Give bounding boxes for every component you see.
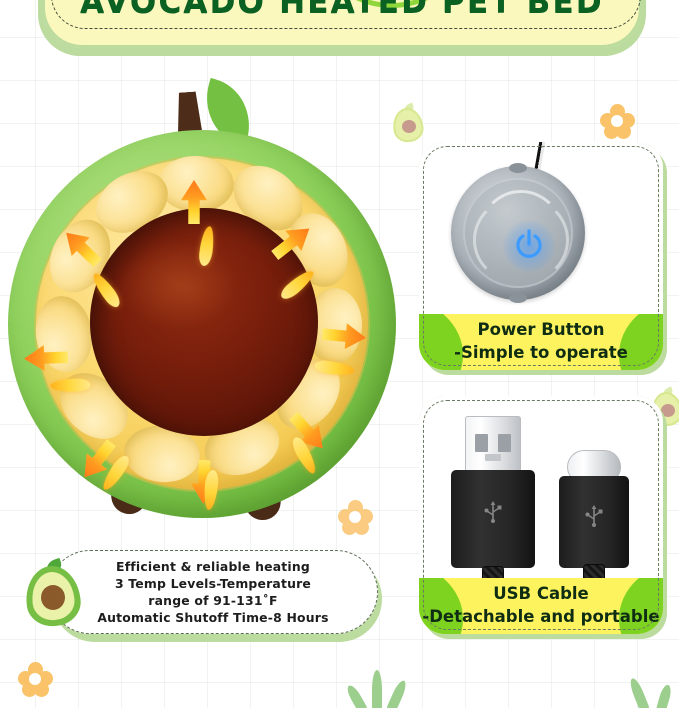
feature-line-1: Efficient & reliable heating xyxy=(48,558,378,575)
caption-text: Power Button -Simple to operate xyxy=(419,318,663,364)
usb-c-connector-housing xyxy=(559,476,629,568)
panel-image-area xyxy=(419,142,663,314)
panel-caption: USB Cable -Detachable and portable xyxy=(419,578,663,634)
feature-text: Efficient & reliable heating 3 Temp Leve… xyxy=(48,558,378,626)
flower-core xyxy=(611,115,623,127)
usb-a-connector-metal xyxy=(465,416,521,474)
page-title: AVOCADO HEATED PET BED xyxy=(38,0,646,20)
panel-body: USB Cable -Detachable and portable xyxy=(419,396,663,634)
usb-cable-illustration xyxy=(439,408,649,578)
usb-a-contact-slot xyxy=(475,434,488,452)
caption-line-2: -Simple to operate xyxy=(419,341,663,364)
flower-top-right-icon xyxy=(600,104,634,138)
product-illustration-pet-bed xyxy=(8,130,396,540)
usb-logo-icon xyxy=(584,504,604,528)
bed-center-sheen xyxy=(118,240,238,330)
flower-core xyxy=(349,511,361,523)
grass-blade xyxy=(372,670,382,708)
usb-a-contact-slot xyxy=(498,434,511,452)
grass-blade xyxy=(656,684,673,708)
infographic-canvas: AVOCADO HEATED PET BED xyxy=(0,0,679,708)
power-controller-device[interactable] xyxy=(451,166,585,300)
panel-body: Power Button -Simple to operate xyxy=(419,142,663,370)
panel-image-area xyxy=(419,396,663,578)
usb-a-connector-housing xyxy=(451,470,535,568)
usb-a-chip xyxy=(485,454,501,461)
power-icon[interactable] xyxy=(513,228,545,260)
avocado-pit xyxy=(41,585,65,610)
grass-blade xyxy=(386,679,408,708)
flower-mid-left-icon xyxy=(338,500,372,534)
mini-avocado-top-icon xyxy=(393,104,427,144)
panel-caption: Power Button -Simple to operate xyxy=(419,314,663,370)
flower-bottom-left-icon xyxy=(18,662,52,696)
grass-center-bottom-icon xyxy=(356,668,400,708)
grass-blade xyxy=(345,683,368,708)
caption-line-2: -Detachable and portable xyxy=(419,605,663,628)
grass-right-bottom-icon xyxy=(638,668,679,708)
flower-core xyxy=(29,673,41,685)
caption-text: USB Cable -Detachable and portable xyxy=(419,582,663,628)
feature-callout: Efficient & reliable heating 3 Temp Leve… xyxy=(48,550,378,638)
controller-notch xyxy=(509,163,527,173)
title-banner: AVOCADO HEATED PET BED xyxy=(38,0,646,56)
usb-logo-icon xyxy=(483,500,503,524)
panel-usb-cable[interactable]: USB Cable -Detachable and portable xyxy=(419,396,667,638)
avocado-half-icon xyxy=(26,560,84,626)
controller-notch xyxy=(509,293,527,303)
panel-power-button[interactable]: Power Button -Simple to operate xyxy=(419,142,667,374)
caption-line-1: USB Cable xyxy=(419,582,663,605)
feature-line-3: range of 91-131˚F xyxy=(48,592,378,609)
feature-line-2: 3 Temp Levels-Temperature xyxy=(48,575,378,592)
grass-blade xyxy=(628,677,650,708)
caption-line-1: Power Button xyxy=(419,318,663,341)
feature-line-4: Automatic Shutoff Time-8 Hours xyxy=(48,609,378,626)
mini-avocado-pit xyxy=(402,120,416,133)
